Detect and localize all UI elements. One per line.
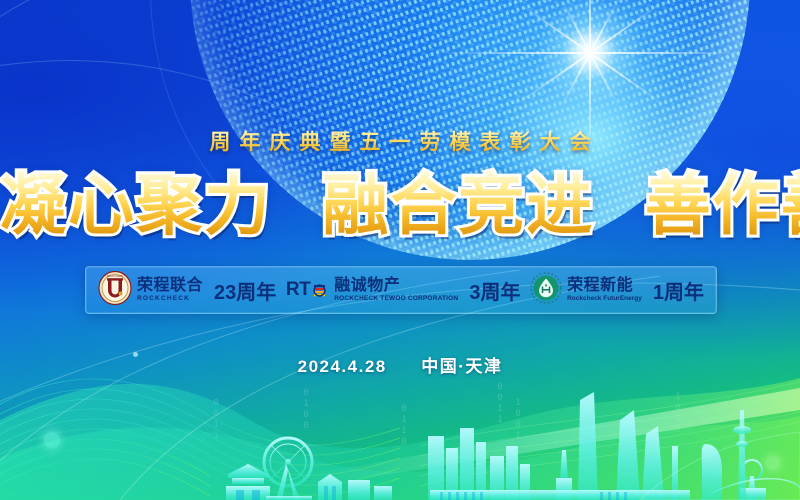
headline-segment-3-text: 善作善成	[645, 168, 800, 242]
headline-segment-2: 融合竞进 融合竞进	[322, 172, 594, 238]
badge-3-name-cn: 荣程新能	[567, 278, 642, 294]
headline-segment-2-text: 融合竞进	[322, 168, 594, 242]
headline-segment-1-text: 凝心聚力	[0, 168, 272, 242]
badge-1-years: 23周年	[214, 276, 276, 305]
event-poster: 0100 0011 1001 0110 1010 0011	[0, 0, 800, 500]
badge-3-years: 1周年	[653, 276, 704, 305]
badge-1-names: 荣程联合 ROCKCHECK	[137, 278, 203, 303]
badge-2-years: 3周年	[469, 276, 520, 305]
badge-rockcheck-futurenergy: 荣程新能 Rockcheck FuturEnergy 1周年	[530, 272, 704, 309]
event-dateline: 2024.4.28 中国·天津	[0, 352, 800, 377]
rtc-mark-icon: RT	[286, 279, 329, 301]
event-headline: 凝心聚力 凝心聚力 融合竞进 融合竞进 善作善成 善作善成	[0, 172, 800, 238]
event-location: 中国·天津	[421, 357, 502, 376]
badge-2-logo-text: RT	[286, 279, 310, 301]
badge-3-name-en: Rockcheck FuturEnergy	[567, 296, 642, 303]
badge-2-name-cn: 融诚物产	[334, 278, 458, 294]
anniversary-badge-bar: ROCKCHECK 荣程联合 ROCKCHECK 23周年 RT	[85, 266, 717, 314]
badge-1-name-en: ROCKCHECK	[137, 296, 203, 303]
badge-rockcheck-tewoo: RT 融诚物产 ROCKCHECK TEWOO CORPORATION 3周年	[286, 276, 521, 305]
headline-segment-3: 善作善成 善作善成	[645, 172, 800, 238]
badge-2-name-en: ROCKCHECK TEWOO CORPORATION	[334, 296, 458, 303]
futurenergy-droplet-icon	[530, 272, 562, 309]
event-date: 2024.4.28	[298, 357, 387, 376]
event-subtitle: 周年庆典暨五一劳模表彰大会	[0, 126, 800, 156]
rockcheck-u-emblem-icon: ROCKCHECK	[98, 271, 132, 310]
poster-content: 周年庆典暨五一劳模表彰大会 凝心聚力 凝心聚力 融合竞进 融合竞进 善作善成 善…	[0, 0, 800, 500]
headline-segment-1: 凝心聚力 凝心聚力	[0, 172, 272, 238]
svg-text:ROCKCHECK: ROCKCHECK	[107, 274, 124, 278]
badge-rockcheck-union: ROCKCHECK 荣程联合 ROCKCHECK 23周年	[98, 271, 276, 310]
badge-2-names: 融诚物产 ROCKCHECK TEWOO CORPORATION	[334, 278, 458, 303]
badge-3-names: 荣程新能 Rockcheck FuturEnergy	[567, 278, 642, 303]
badge-1-name-cn: 荣程联合	[137, 278, 203, 294]
